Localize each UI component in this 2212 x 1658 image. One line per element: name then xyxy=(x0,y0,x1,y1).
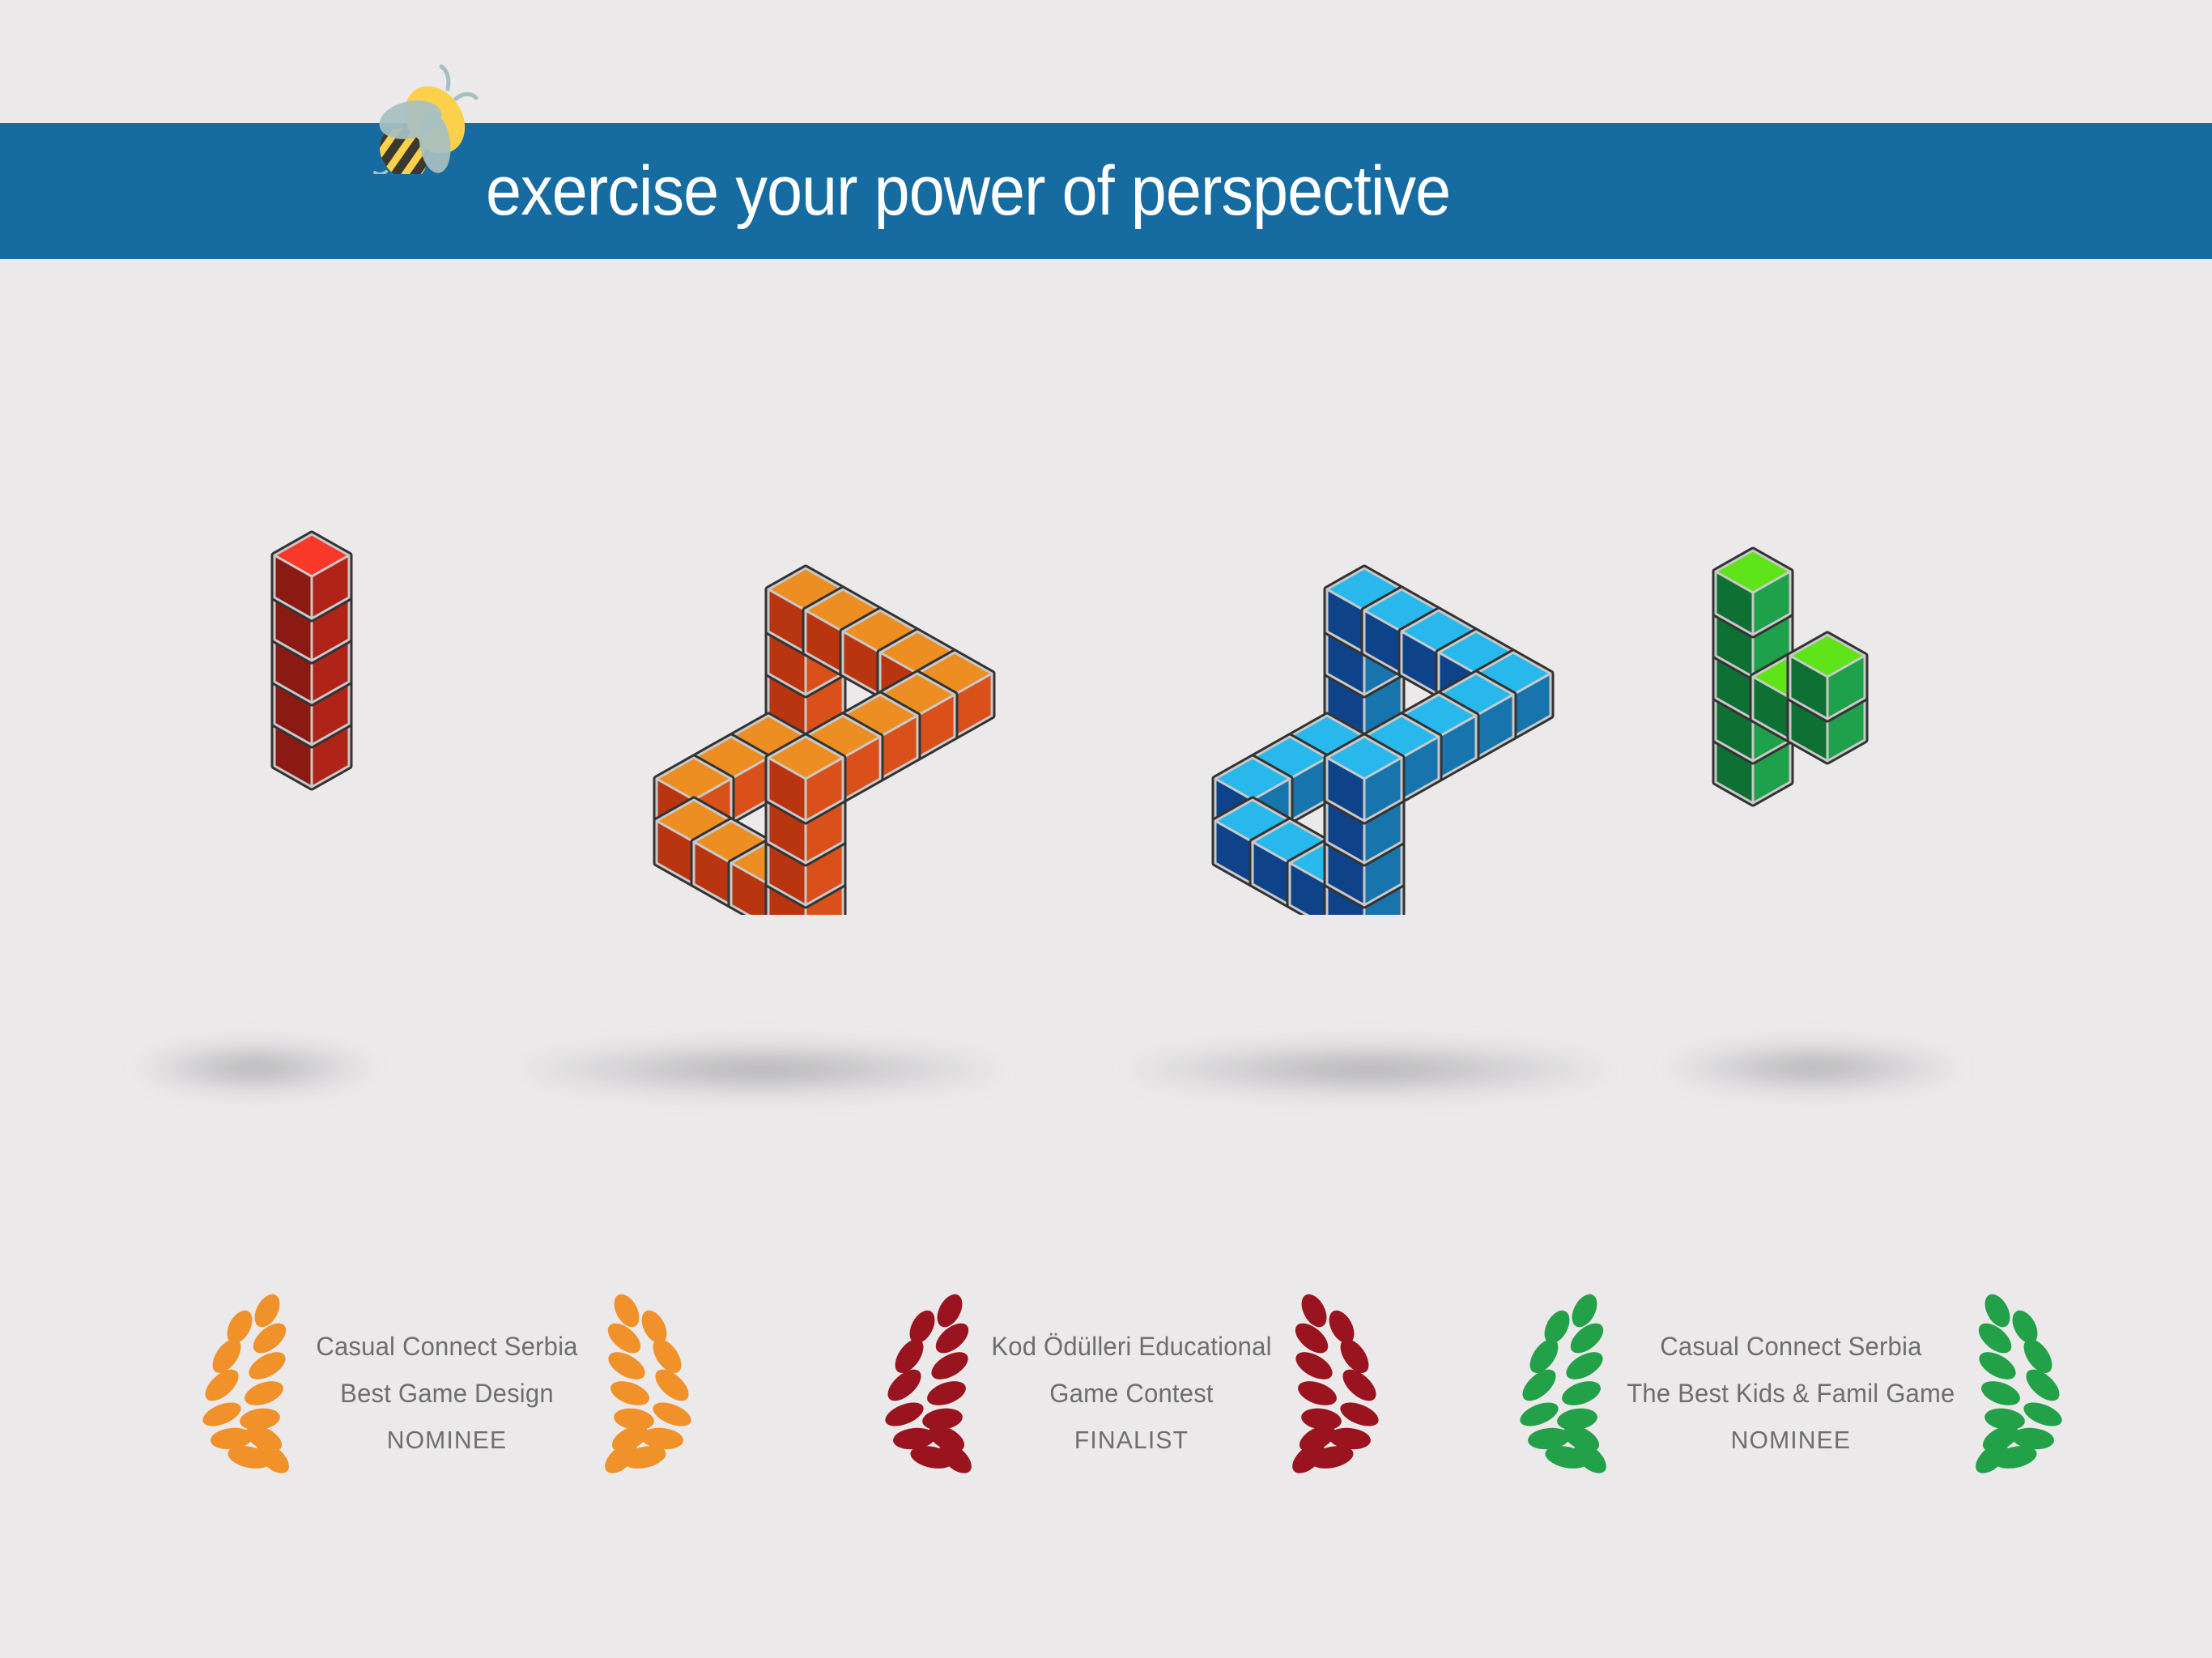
bee-icon xyxy=(368,57,482,174)
letter-shadow xyxy=(518,1043,1004,1096)
laurel-leaf xyxy=(604,1346,649,1385)
letter-shadow xyxy=(1125,1043,1611,1096)
award-badge: Casual Connect Serbia The Best Kids & Fa… xyxy=(1524,1279,2058,1506)
letter-shadow xyxy=(1668,1043,1959,1093)
laurel-leaf xyxy=(1559,1376,1604,1410)
award-text: Casual Connect Serbia The Best Kids & Fa… xyxy=(1619,1333,1963,1452)
laurel-leaf xyxy=(1975,1346,2020,1385)
laurel-leaf xyxy=(241,1376,287,1410)
laurel-leaf xyxy=(2020,1398,2065,1431)
laurel-leaf xyxy=(199,1398,244,1431)
laurel-leaf xyxy=(927,1346,972,1385)
letter-o-orange xyxy=(595,494,1016,915)
award-line-2: Game Contest xyxy=(992,1380,1272,1406)
bee-antenna-left-icon xyxy=(441,66,449,89)
award-status: NOMINEE xyxy=(308,1427,585,1452)
award-status: NOMINEE xyxy=(1627,1427,1955,1452)
awards-row: Casual Connect Serbia Best Game Design N… xyxy=(0,1279,2212,1522)
laurel-leaf xyxy=(649,1398,694,1431)
letter-shadow xyxy=(138,1043,372,1093)
award-badge: Casual Connect Serbia Best Game Design N… xyxy=(180,1279,714,1506)
laurel-leaf xyxy=(1562,1346,1607,1385)
laurel-left-icon xyxy=(180,1291,301,1494)
laurel-right-icon xyxy=(593,1291,714,1494)
award-line-2: The Best Kids & Famil Game xyxy=(1627,1380,1955,1406)
award-badge: Kod Ödülleri Educational Game Contest FI… xyxy=(865,1279,1399,1506)
laurel-leaf xyxy=(1291,1346,1336,1385)
header-banner: exercise your power of perspective xyxy=(0,123,2212,259)
laurel-leaf xyxy=(1516,1398,1561,1431)
letter-k xyxy=(1680,494,1972,899)
award-text: Kod Ödülleri Educational Game Contest FI… xyxy=(984,1333,1279,1452)
page-title: exercise your power of perspective xyxy=(486,156,1450,226)
award-status: FINALIST xyxy=(992,1427,1272,1452)
logo-letters xyxy=(0,486,2212,939)
letter-o-blue xyxy=(1154,494,1575,915)
laurel-left-icon xyxy=(1497,1291,1619,1494)
award-line-2: Best Game Design xyxy=(308,1380,585,1406)
letter-i xyxy=(223,502,401,907)
laurel-leaf xyxy=(1337,1398,1381,1431)
laurel-right-icon xyxy=(1963,1291,2085,1494)
laurel-left-icon xyxy=(862,1291,984,1494)
laurel-leaf xyxy=(607,1376,653,1410)
laurel-leaf xyxy=(925,1376,970,1410)
bee-stinger-icon xyxy=(375,172,386,174)
award-line-1: Casual Connect Serbia xyxy=(308,1333,585,1359)
laurel-leaf xyxy=(1295,1376,1340,1410)
bee-antenna-right-icon xyxy=(456,94,476,99)
award-text: Casual Connect Serbia Best Game Design N… xyxy=(301,1333,593,1452)
laurel-leaf xyxy=(1978,1376,2023,1410)
award-line-1: Casual Connect Serbia xyxy=(1627,1333,1955,1359)
laurel-leaf xyxy=(883,1398,927,1431)
laurel-right-icon xyxy=(1280,1291,1402,1494)
award-line-1: Kod Ödülleri Educational xyxy=(992,1333,1272,1359)
laurel-leaf xyxy=(245,1346,290,1385)
